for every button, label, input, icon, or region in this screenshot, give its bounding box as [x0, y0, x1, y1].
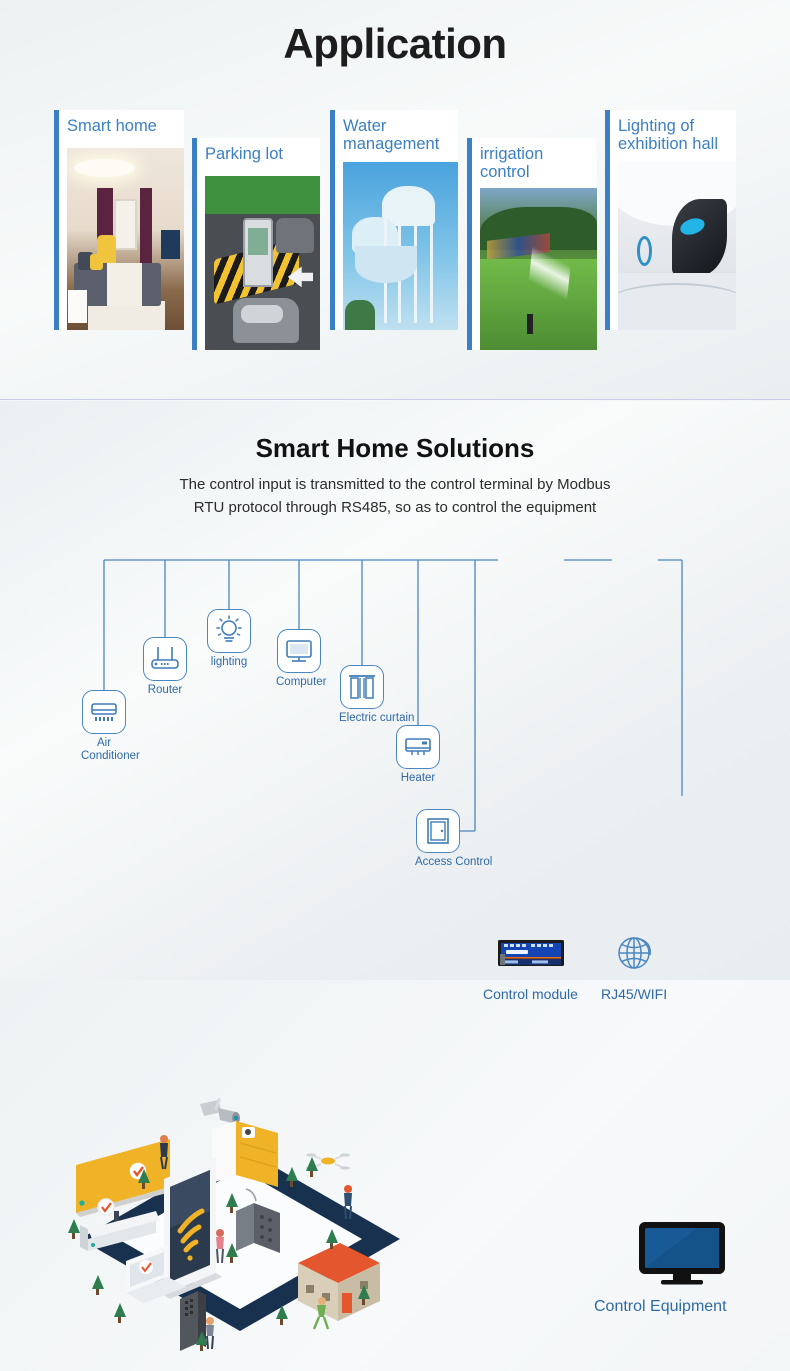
curtain-icon: [340, 665, 384, 709]
application-card-irrigation-control[interactable]: irrigation control: [467, 138, 597, 350]
device-label: Air Conditioner: [81, 737, 127, 763]
network-label: RJ45/WIFI: [601, 986, 667, 1002]
device-label: Heater: [395, 772, 441, 785]
application-card-image: [67, 148, 184, 330]
device-node-access-control[interactable]: Access Control: [415, 809, 461, 869]
device-label: Electric curtain: [339, 712, 385, 725]
application-card-label: Smart home: [59, 110, 184, 140]
device-node-lighting[interactable]: lighting: [206, 609, 252, 669]
application-card-image: [618, 162, 736, 330]
control-equipment-label: Control Equipment: [594, 1298, 727, 1316]
device-label: Router: [142, 684, 188, 697]
heater-icon: [396, 725, 440, 769]
section-title: Smart Home Solutions: [0, 401, 790, 464]
light-bulb-icon: [207, 609, 251, 653]
application-card-exhibition-lighting[interactable]: Lighting of exhibition hall: [605, 110, 736, 330]
control-module-device[interactable]: [498, 937, 564, 969]
smart-home-solutions-section: Smart Home Solutions The control input i…: [0, 401, 790, 980]
device-node-electric-curtain[interactable]: Electric curtain: [339, 665, 385, 725]
device-label: Access Control: [415, 856, 461, 869]
monitor-icon: [277, 629, 321, 673]
application-card-parking-lot[interactable]: Parking lot: [192, 138, 320, 350]
door-icon: [416, 809, 460, 853]
application-card-label: Parking lot: [197, 138, 320, 168]
device-node-heater[interactable]: Heater: [395, 725, 441, 785]
router-icon: [143, 637, 187, 681]
device-node-router[interactable]: Router: [142, 637, 188, 697]
isometric-smart-city-illustration: [40, 1121, 440, 1371]
description-line-1: The control input is transmitted to the …: [0, 473, 790, 496]
application-section: Application Smart home Parking lot Water…: [0, 0, 790, 400]
application-card-label: irrigation control: [472, 138, 597, 186]
application-card-label: Water management: [335, 110, 458, 158]
description-line-2: RTU protocol through RS485, so as to con…: [0, 496, 790, 519]
device-label: Computer: [276, 676, 322, 689]
page-title: Application: [0, 0, 790, 68]
application-card-image: [343, 162, 458, 330]
application-card-water-management[interactable]: Water management: [330, 110, 458, 330]
globe-icon[interactable]: [612, 929, 658, 975]
air-conditioner-icon: [82, 690, 126, 734]
device-node-computer[interactable]: Computer: [276, 629, 322, 689]
device-label: lighting: [206, 656, 252, 669]
device-node-air-conditioner[interactable]: Air Conditioner: [81, 690, 127, 763]
section-description: The control input is transmitted to the …: [0, 464, 790, 519]
application-card-image: [480, 188, 597, 350]
control-module-label: Control module: [483, 986, 578, 1002]
monitor-filled-icon[interactable]: [637, 1221, 727, 1287]
application-card-label: Lighting of exhibition hall: [610, 110, 736, 158]
application-card-image: [205, 176, 320, 350]
application-card-smart-home[interactable]: Smart home: [54, 110, 184, 330]
